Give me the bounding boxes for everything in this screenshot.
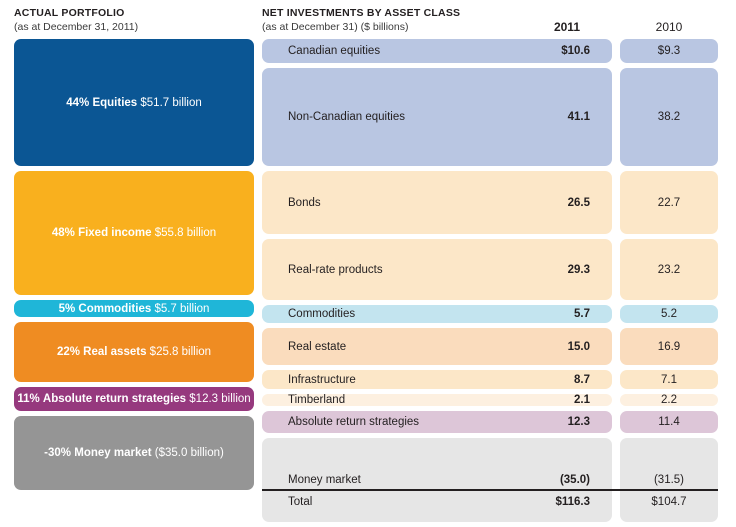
asset-class-rows-2010: $9.338.222.723.25.216.97.12.211.4(31.5): [620, 39, 718, 527]
portfolio-block-label: 48% Fixed income $55.8 billion: [52, 226, 216, 240]
portfolio-block-percent: 44%: [66, 97, 89, 109]
asset-class-name: Real estate: [262, 341, 568, 353]
asset-class-value-2011: 5.7: [574, 308, 612, 320]
asset-class-value-2011: (35.0): [560, 474, 612, 486]
asset-class-name: Absolute return strategies: [262, 416, 568, 428]
portfolio-block-amount: $5.7 billion: [154, 303, 209, 315]
portfolio-block-amount: $12.3 billion: [189, 393, 250, 405]
asset-class-value-2010: 7.1: [661, 374, 677, 386]
net-investments-title: NET INVESTMENTS BY ASSET CLASS: [262, 6, 562, 20]
portfolio-block-percent: 11%: [17, 393, 39, 405]
portfolio-block-label: 22% Real assets $25.8 billion: [57, 345, 211, 359]
asset-class-value-2010: 22.7: [658, 197, 680, 209]
portfolio-block: 22% Real assets $25.8 billion: [14, 322, 254, 382]
asset-class-name: Commodities: [262, 308, 574, 320]
portfolio-block: 48% Fixed income $55.8 billion: [14, 171, 254, 295]
table-row: 22.7: [620, 171, 718, 234]
table-row: 5.2: [620, 305, 718, 323]
table-row: Real-rate products29.3: [262, 239, 612, 300]
table-row: 7.1: [620, 370, 718, 389]
asset-class-name: Money market: [262, 474, 560, 486]
table-row: Bonds26.5: [262, 171, 612, 234]
portfolio-block-label: 44% Equities $51.7 billion: [66, 96, 202, 110]
asset-class-value-2010: 38.2: [658, 111, 680, 123]
asset-class-value-2010: $9.3: [658, 45, 680, 57]
column-header-2011: 2011: [470, 20, 580, 34]
table-row: Commodities5.7: [262, 305, 612, 323]
table-row: Canadian equities$10.6: [262, 39, 612, 63]
table-row: Infrastructure8.7: [262, 370, 612, 389]
portfolio-block-percent: 5%: [59, 303, 76, 315]
table-row: 2.2: [620, 394, 718, 406]
table-row: 23.2: [620, 239, 718, 300]
table-row: $9.3: [620, 39, 718, 63]
asset-class-value-2011: 12.3: [568, 416, 612, 428]
portfolio-block-name: Equities: [92, 97, 137, 109]
portfolio-block: 11% Absolute return strategies $12.3 bil…: [14, 387, 254, 411]
portfolio-block: 44% Equities $51.7 billion: [14, 39, 254, 166]
portfolio-block-percent: -30%: [44, 447, 71, 459]
table-row: Non-Canadian equities41.1: [262, 68, 612, 166]
portfolio-block-percent: 48%: [52, 227, 75, 239]
portfolio-block-name: Real assets: [83, 346, 146, 358]
asset-class-value-2011: 15.0: [568, 341, 612, 353]
portfolio-block-label: 5% Commodities $5.7 billion: [59, 302, 210, 316]
portfolio-block-amount: $51.7 billion: [140, 97, 201, 109]
portfolio-block-label: 11% Absolute return strategies $12.3 bil…: [17, 392, 250, 406]
table-row: Absolute return strategies12.3: [262, 411, 612, 433]
asset-class-name: Canadian equities: [262, 45, 561, 57]
table-row: Timberland2.1: [262, 394, 612, 406]
portfolio-block-name: Fixed income: [78, 227, 152, 239]
total-divider: [262, 489, 718, 491]
asset-class-value-2011: $10.6: [561, 45, 612, 57]
asset-class-value-2010: (31.5): [654, 474, 684, 486]
portfolio-block: 5% Commodities $5.7 billion: [14, 300, 254, 317]
column-header-2010: 2010: [620, 20, 718, 34]
asset-class-rows-2011: Canadian equities$10.6Non-Canadian equit…: [262, 39, 612, 527]
asset-class-name: Infrastructure: [262, 374, 574, 386]
asset-class-name: Non-Canadian equities: [262, 111, 568, 123]
table-row: 11.4: [620, 411, 718, 433]
asset-class-name: Bonds: [262, 197, 568, 209]
asset-class-value-2011: 2.1: [574, 394, 612, 406]
asset-class-value-2011: 29.3: [568, 264, 612, 276]
table-row: 38.2: [620, 68, 718, 166]
asset-class-name: Real-rate products: [262, 264, 568, 276]
portfolio-block-amount: $25.8 billion: [150, 346, 211, 358]
portfolio-block-name: Money market: [74, 447, 151, 459]
table-row: Real estate15.0: [262, 328, 612, 365]
portfolio-block-percent: 22%: [57, 346, 80, 358]
asset-class-value-2011: 8.7: [574, 374, 612, 386]
actual-portfolio-subtitle: (as at December 31, 2011): [14, 20, 254, 34]
actual-portfolio-column: 44% Equities $51.7 billion48% Fixed inco…: [14, 39, 254, 495]
actual-portfolio-title: ACTUAL PORTFOLIO: [14, 6, 254, 20]
asset-class-name: Timberland: [262, 394, 574, 406]
asset-class-value-2010: 5.2: [661, 308, 677, 320]
actual-portfolio-header: ACTUAL PORTFOLIO (as at December 31, 201…: [14, 6, 254, 34]
asset-class-value-2010: 16.9: [658, 341, 680, 353]
table-row: (31.5): [620, 438, 718, 522]
asset-class-value-2011: 41.1: [568, 111, 612, 123]
table-row: Money market(35.0): [262, 438, 612, 522]
portfolio-block-name: Commodities: [78, 303, 151, 315]
total-value-2011: $116.3: [470, 496, 590, 508]
total-label: Total: [288, 496, 312, 508]
portfolio-block-amount: ($35.0 billion): [155, 447, 224, 459]
asset-class-value-2010: 23.2: [658, 264, 680, 276]
asset-class-value-2011: 26.5: [568, 197, 612, 209]
portfolio-block-amount: $55.8 billion: [155, 227, 216, 239]
portfolio-block: -30% Money market ($35.0 billion): [14, 416, 254, 490]
table-row: 16.9: [620, 328, 718, 365]
asset-class-value-2010: 11.4: [658, 416, 680, 428]
asset-class-value-2010: 2.2: [661, 394, 677, 406]
portfolio-block-name: Absolute return strategies: [43, 393, 186, 405]
total-value-2010: $104.7: [620, 496, 718, 508]
portfolio-block-label: -30% Money market ($35.0 billion): [44, 446, 224, 460]
